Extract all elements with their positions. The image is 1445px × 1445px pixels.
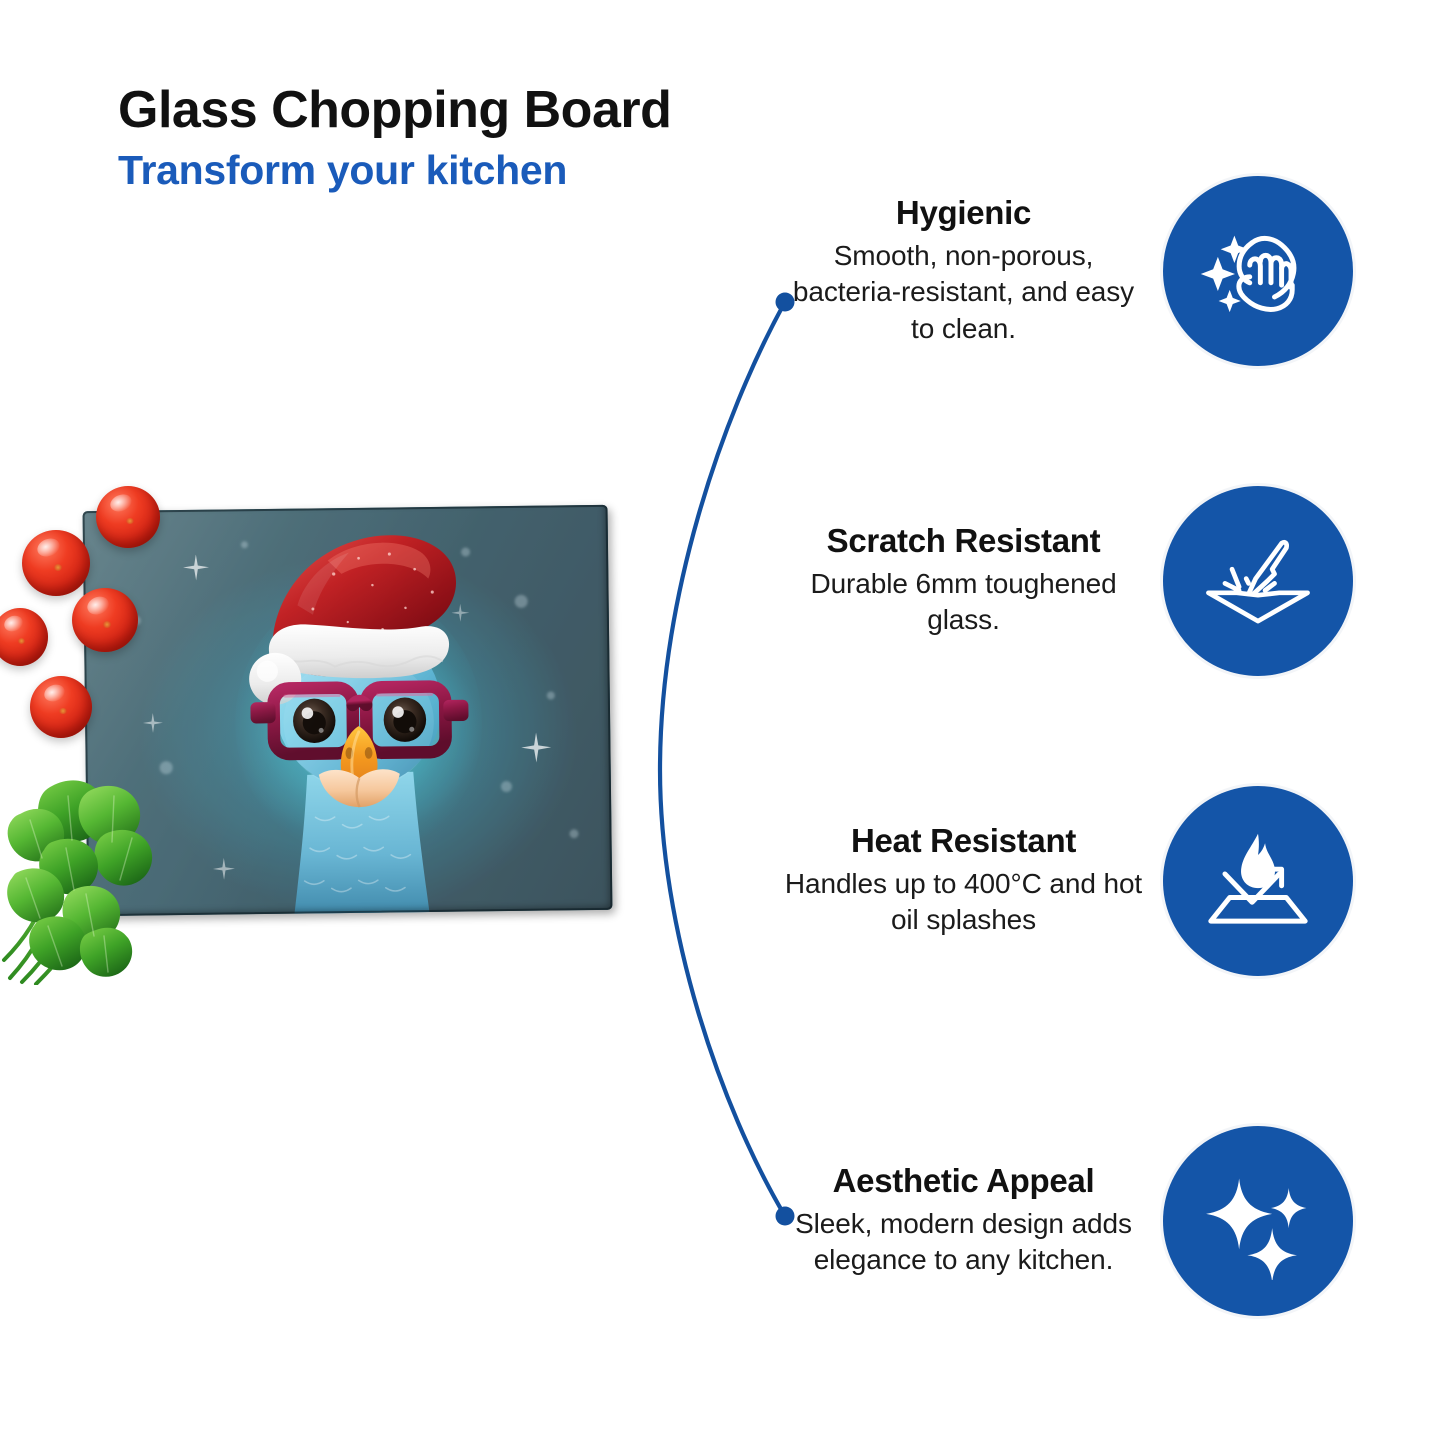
feature-description: Handles up to 400°C and hot oil splashes <box>778 866 1149 939</box>
product-photo <box>0 440 650 1000</box>
aesthetic-appeal-icon-circle <box>1163 1126 1353 1316</box>
page-subtitle: Transform your kitchen <box>118 148 671 192</box>
feature-hygienic: Hygienic Smooth, non-porous, bacteria-re… <box>778 176 1353 366</box>
feature-title: Heat Resistant <box>778 823 1149 860</box>
callout-curve <box>600 270 860 1250</box>
chicken-with-santa-hat-artwork <box>198 514 518 916</box>
heat-resistant-icon-circle <box>1163 786 1353 976</box>
feature-scratch-resistant: Scratch Resistant Durable 6mm toughened … <box>778 486 1353 676</box>
wiping-hand-sparkle-icon <box>1199 212 1317 330</box>
scratch-resistant-icon-circle <box>1163 486 1353 676</box>
feature-description: Sleek, modern design adds elegance to an… <box>778 1206 1149 1279</box>
cherry-tomato <box>72 588 138 652</box>
cherry-tomato <box>0 608 48 666</box>
bokeh-speck <box>514 595 527 608</box>
feature-text: Scratch Resistant Durable 6mm toughened … <box>778 523 1163 639</box>
feature-text: Hygienic Smooth, non-porous, bacteria-re… <box>778 195 1163 347</box>
cherry-tomato <box>96 486 160 548</box>
feature-title: Aesthetic Appeal <box>778 1163 1149 1200</box>
page-title: Glass Chopping Board <box>118 82 671 138</box>
flame-deflect-surface-icon <box>1199 822 1317 940</box>
cherry-tomato <box>22 530 90 596</box>
heading-block: Glass Chopping Board Transform your kitc… <box>118 82 671 192</box>
feature-text: Heat Resistant Handles up to 400°C and h… <box>778 823 1163 939</box>
feature-heat-resistant: Heat Resistant Handles up to 400°C and h… <box>778 786 1353 976</box>
infographic-canvas: Glass Chopping Board Transform your kitc… <box>0 0 1445 1445</box>
knife-impact-surface-icon <box>1199 522 1317 640</box>
feature-title: Scratch Resistant <box>778 523 1149 560</box>
feature-aesthetic-appeal: Aesthetic Appeal Sleek, modern design ad… <box>778 1126 1353 1316</box>
feature-description: Smooth, non-porous, bacteria-resistant, … <box>778 238 1149 347</box>
bokeh-speck <box>569 829 578 838</box>
three-sparkles-icon <box>1199 1162 1317 1280</box>
cherry-tomato <box>30 676 92 738</box>
feature-title: Hygienic <box>778 195 1149 232</box>
feature-text: Aesthetic Appeal Sleek, modern design ad… <box>778 1163 1163 1279</box>
parsley-sprig <box>0 770 200 985</box>
hygienic-icon-circle <box>1163 176 1353 366</box>
feature-description: Durable 6mm toughened glass. <box>778 566 1149 639</box>
